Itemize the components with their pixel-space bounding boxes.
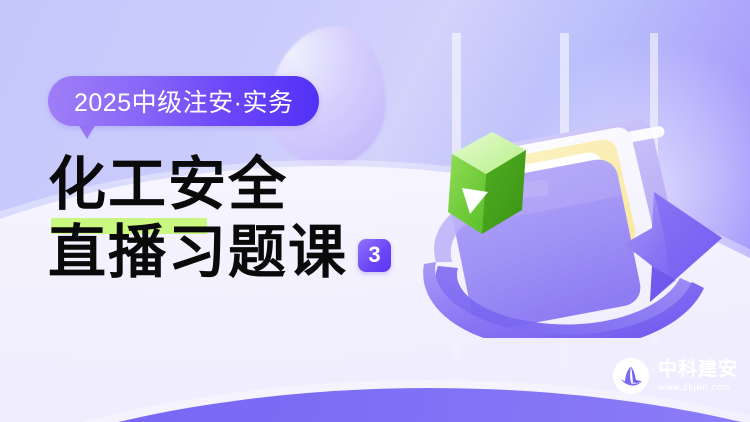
title-line-2: 直播习题课 3: [48, 218, 391, 286]
episode-badge: 3: [358, 239, 391, 272]
zkjan-logo-icon: [612, 357, 650, 395]
title-line-2-text: 直播习题课: [48, 218, 348, 286]
brand-logo: 中科建安 www.zkjan.com: [612, 357, 738, 395]
course-tag-pill: 2025中级注安·实务: [48, 76, 319, 126]
brand-name: 中科建安: [658, 360, 738, 380]
title-block: 化工安全 直播习题课 3: [48, 150, 391, 286]
title-line-1-text: 化工安全: [48, 150, 288, 218]
brand-url: www.zkjan.com: [658, 382, 738, 393]
folder-illustration: [418, 88, 750, 338]
course-tag-label: 2025中级注安·实务: [74, 83, 293, 119]
tag-pill-tail: [78, 124, 96, 139]
course-banner: 2025中级注安·实务 化工安全 直播习题课 3 中科建安 www.zkjan.…: [0, 0, 750, 422]
title-line-1: 化工安全: [48, 150, 391, 218]
brand-logo-text: 中科建安 www.zkjan.com: [658, 360, 738, 393]
